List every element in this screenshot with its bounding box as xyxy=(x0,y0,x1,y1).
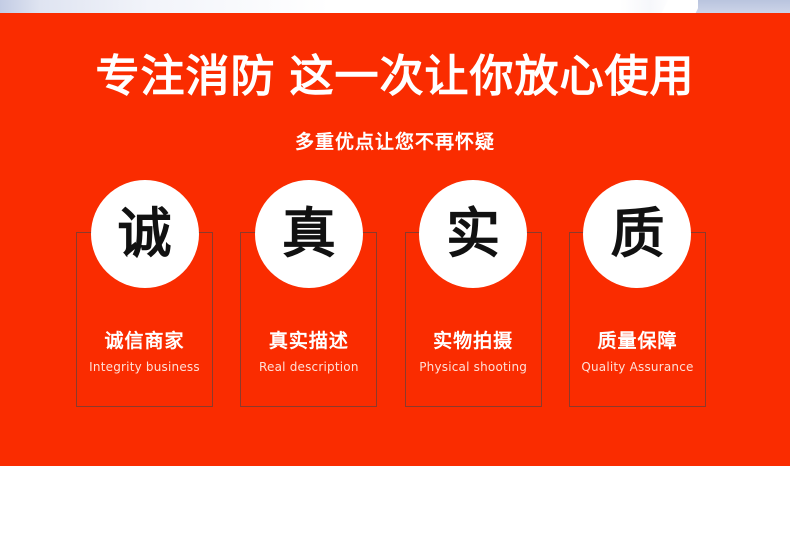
decorative-white-wedge xyxy=(662,0,702,13)
card-badge-circle: 真 xyxy=(255,180,363,288)
card-badge-circle: 实 xyxy=(419,180,527,288)
page-subtitle: 多重优点让您不再怀疑 xyxy=(0,133,790,152)
card-glyph: 质 xyxy=(610,207,664,261)
card-glyph: 实 xyxy=(446,207,500,261)
card-title: 诚信商家 xyxy=(76,332,213,351)
headline-part-2: 这一次让你放心使用 xyxy=(290,51,695,102)
feature-card-quality-assurance: 质 质量保障 Quality Assurance xyxy=(569,180,706,407)
card-badge-circle: 诚 xyxy=(91,180,199,288)
card-subtitle: Quality Assurance xyxy=(561,361,714,373)
card-subtitle: Physical shooting xyxy=(397,361,550,373)
card-glyph: 真 xyxy=(282,207,336,261)
feature-card-physical-shooting: 实 实物拍摄 Physical shooting xyxy=(405,180,542,407)
promo-banner: 专注消防这一次让你放心使用 多重优点让您不再怀疑 诚 诚信商家 Integrit… xyxy=(0,13,790,466)
page-title: 专注消防这一次让你放心使用 xyxy=(0,55,790,99)
feature-card-real-description: 真 真实描述 Real description xyxy=(240,180,377,407)
card-title: 实物拍摄 xyxy=(405,332,542,351)
card-glyph: 诚 xyxy=(118,207,172,261)
previous-banner-cutoff-strip xyxy=(0,0,790,13)
page-whitespace xyxy=(0,466,790,539)
card-badge-circle: 质 xyxy=(583,180,691,288)
card-subtitle: Integrity business xyxy=(68,361,221,373)
feature-card-integrity: 诚 诚信商家 Integrity business xyxy=(76,180,213,407)
decorative-blue-corner xyxy=(698,0,790,13)
feature-card-list: 诚 诚信商家 Integrity business 真 真实描述 Real de… xyxy=(76,180,706,407)
headline-part-1: 专注消防 xyxy=(96,51,276,102)
card-title: 质量保障 xyxy=(569,332,706,351)
card-title: 真实描述 xyxy=(240,332,377,351)
card-subtitle: Real description xyxy=(232,361,385,373)
